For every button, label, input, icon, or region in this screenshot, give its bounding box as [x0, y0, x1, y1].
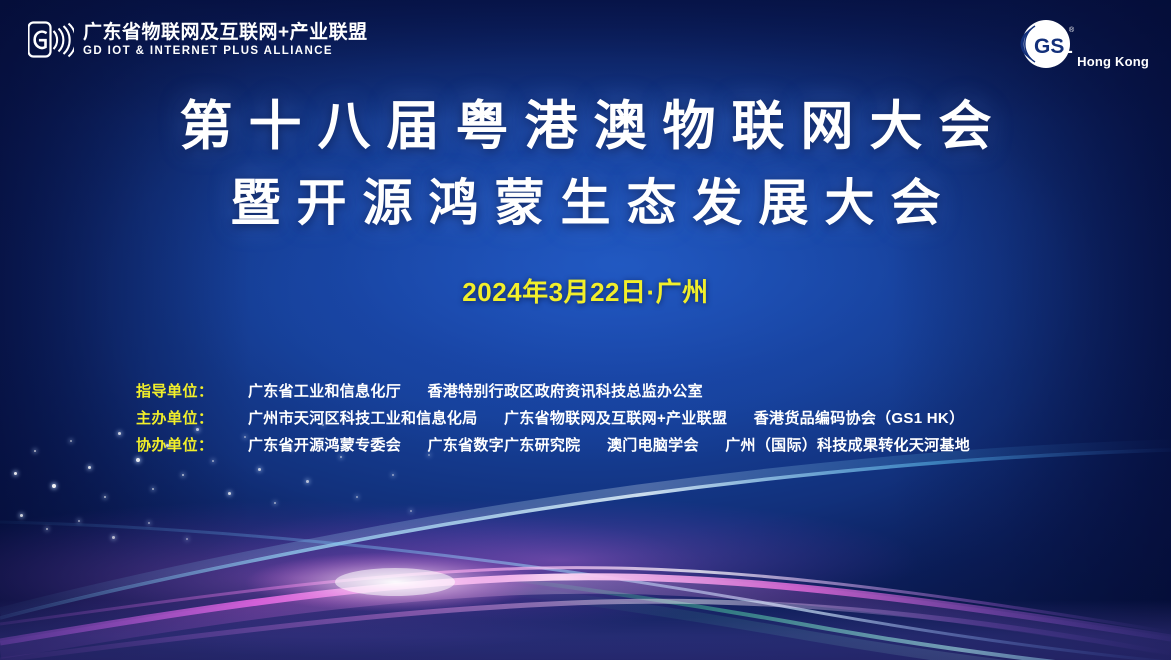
organizer-values-guidance: 广东省工业和信息化厅 香港特别行政区政府资讯科技总监办公室	[248, 380, 703, 401]
organizer-label-guidance: 指导单位：	[136, 380, 248, 401]
organizers-block: 指导单位： 广东省工业和信息化厅 香港特别行政区政府资讯科技总监办公室 主办单位…	[136, 380, 970, 461]
organizer-item: 香港货品编码协会（GS1 HK）	[754, 410, 965, 427]
organizer-item: 广州（国际）科技成果转化天河基地	[725, 437, 970, 454]
organizer-item: 广东省数字广东研究院	[427, 437, 580, 454]
gs1-hong-kong-logo[interactable]: GS 1 ® Hong Kong	[1017, 18, 1149, 74]
organizer-values-host: 广州市天河区科技工业和信息化局 广东省物联网及互联网+产业联盟 香港货品编码协会…	[248, 407, 964, 428]
gs1-region-label: Hong Kong	[1077, 54, 1149, 69]
gs1-globe-icon: GS 1 ®	[1017, 18, 1083, 74]
organizer-row-coorganizer: 协办单位： 广东省开源鸿蒙专委会 广东省数字广东研究院 澳门电脑学会 广州（国际…	[136, 434, 970, 455]
gd-iot-alliance-logo[interactable]: 广东省物联网及互联网+产业联盟 GD IOT & INTERNET PLUS A…	[28, 20, 368, 60]
organizer-item: 澳门电脑学会	[607, 437, 699, 454]
conference-title-line2: 暨开源鸿蒙生态发展大会	[0, 172, 1171, 234]
organizer-item: 广东省物联网及互联网+产业联盟	[504, 410, 727, 427]
conference-banner: 广东省物联网及互联网+产业联盟 GD IOT & INTERNET PLUS A…	[0, 0, 1171, 660]
organizer-values-coorganizer: 广东省开源鸿蒙专委会 广东省数字广东研究院 澳门电脑学会 广州（国际）科技成果转…	[248, 434, 970, 455]
organizer-label-host: 主办单位：	[136, 407, 248, 428]
svg-text:®: ®	[1069, 26, 1075, 34]
gd-iot-logo-en: GD IOT & INTERNET PLUS ALLIANCE	[83, 46, 368, 58]
svg-text:1: 1	[1061, 35, 1073, 58]
gd-iot-logo-wordmark: 广东省物联网及互联网+产业联盟 GD IOT & INTERNET PLUS A…	[83, 23, 368, 58]
gd-iot-signal-logo-icon	[28, 20, 74, 60]
organizer-item: 香港特别行政区政府资讯科技总监办公室	[427, 383, 702, 400]
conference-title-block: 第十八届粤港澳物联网大会 暨开源鸿蒙生态发展大会	[0, 96, 1171, 234]
organizer-label-coorganizer: 协办单位：	[136, 434, 248, 455]
date-location-text: 2024年3月22日·广州	[0, 272, 1171, 309]
organizer-item: 广东省工业和信息化厅	[248, 383, 401, 400]
organizer-item: 广州市天河区科技工业和信息化局	[248, 410, 478, 427]
conference-title-line1: 第十八届粤港澳物联网大会	[0, 96, 1171, 158]
svg-text:GS: GS	[1034, 35, 1064, 58]
organizer-row-host: 主办单位： 广州市天河区科技工业和信息化局 广东省物联网及互联网+产业联盟 香港…	[136, 407, 970, 428]
gd-iot-logo-cn: 广东省物联网及互联网+产业联盟	[83, 23, 368, 42]
organizer-item: 广东省开源鸿蒙专委会	[248, 437, 401, 454]
organizer-row-guidance: 指导单位： 广东省工业和信息化厅 香港特别行政区政府资讯科技总监办公室	[136, 380, 970, 401]
